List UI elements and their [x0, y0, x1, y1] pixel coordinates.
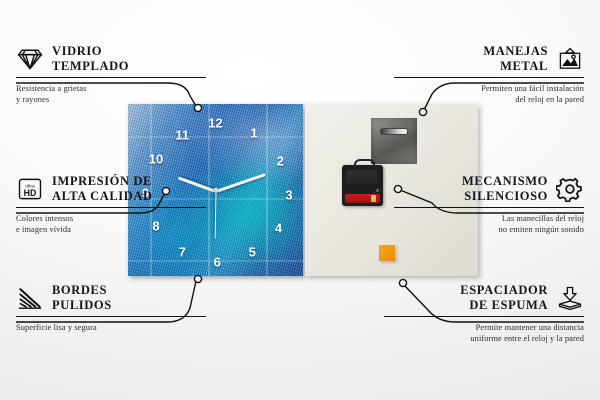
divider [384, 316, 584, 318]
feature-espaciador-espuma[interactable]: ESPACIADOR DE ESPUMA Permite mantener un… [384, 283, 584, 345]
feature-title-line1: IMPRESIÓN DE [52, 174, 153, 189]
gear-icon [556, 176, 584, 202]
diamond-icon [16, 46, 44, 72]
feature-title-line1: VIDRIO [52, 44, 129, 59]
arrow-onto-foam-pad-icon [556, 285, 584, 311]
feature-title-line1: BORDES [52, 283, 112, 298]
clock-numeral-4: 4 [275, 221, 282, 234]
feature-title-line2: SILENCIOSO [462, 189, 548, 204]
feature-heading: MECANISMO SILENCIOSO [394, 174, 584, 204]
feature-heading: ESPACIADOR DE ESPUMA [384, 283, 584, 313]
mechanism-hanging-loop [354, 159, 375, 169]
hanging-picture-frame-icon [556, 46, 584, 72]
hanger-keyhole-slot [380, 128, 408, 135]
anchor-point-bordes [194, 275, 201, 282]
clock-numeral-7: 7 [179, 245, 186, 258]
battery [345, 194, 380, 203]
mechanism-adjust-knob [376, 189, 379, 192]
feature-manejas-metal[interactable]: MANEJAS METAL Permiten una fácil instala… [394, 44, 584, 106]
feature-mecanismo-silencioso[interactable]: MECANISMO SILENCIOSO Las manecillas del … [394, 174, 584, 236]
svg-text:HD: HD [24, 188, 37, 198]
feature-heading: MANEJAS METAL [394, 44, 584, 74]
clock-second-hand [214, 190, 216, 238]
feature-title-line2: METAL [483, 59, 548, 74]
divider [16, 207, 206, 209]
clock-mechanism [342, 165, 383, 206]
clock-numeral-10: 10 [149, 153, 163, 166]
feature-heading: ultra HD IMPRESIÓN DE ALTA CALIDAD [16, 174, 206, 204]
feature-bordes-pulidos[interactable]: BORDES PULIDOS Superficie lisa y segura [16, 283, 206, 333]
feature-vidrio-templado[interactable]: VIDRIO TEMPLADO Resistencia a grietas y … [16, 44, 206, 106]
metal-hanger-plate [371, 118, 417, 164]
clock-center-pivot [213, 188, 218, 193]
divider [394, 207, 584, 209]
mechanism-housing [346, 170, 377, 185]
foam-spacer [379, 245, 395, 261]
feature-description-line1: Las manecillas del reloj [394, 213, 584, 224]
feature-description-line2: uniforme entre el reloj y la pared [384, 333, 584, 344]
clock-numeral-1: 1 [250, 127, 257, 140]
feature-description-line2: del reloj en la pared [394, 94, 584, 105]
feature-title-line1: ESPACIADOR [460, 283, 548, 298]
polished-edge-lines-icon [16, 285, 44, 311]
feature-title-line2: TEMPLADO [52, 59, 129, 74]
feature-description-line2: no emiten ningún sonido [394, 224, 584, 235]
clock-numeral-3: 3 [285, 189, 292, 202]
clock-numeral-12: 12 [208, 116, 222, 129]
feature-description-line1: Colores intensos [16, 213, 206, 224]
feature-title-line2: PULIDOS [52, 298, 112, 313]
feature-impresion-alta-calidad[interactable]: ultra HD IMPRESIÓN DE ALTA CALIDAD Color… [16, 174, 206, 236]
feature-title-line1: MECANISMO [462, 174, 548, 189]
clock-numeral-2: 2 [277, 154, 284, 167]
feature-heading: BORDES PULIDOS [16, 283, 206, 313]
feature-heading: VIDRIO TEMPLADO [16, 44, 206, 74]
feature-description-line1: Resistencia a grietas [16, 83, 206, 94]
divider [16, 316, 206, 318]
feature-description-line1: Permite mantener una distancia [384, 322, 584, 333]
feature-description-line1: Permiten una fácil instalación [394, 83, 584, 94]
divider [16, 77, 206, 79]
feature-title-line1: MANEJAS [483, 44, 548, 59]
infographic-canvas: 12 1 2 3 4 5 6 7 8 9 10 11 [0, 0, 600, 400]
feature-title-line2: ALTA CALIDAD [52, 189, 153, 204]
feature-description-line1: Superficie lisa y segura [16, 322, 206, 333]
feature-description-line2: y rayones [16, 94, 206, 105]
ultra-hd-badge-icon: ultra HD [16, 176, 44, 202]
feature-description-line2: e imagen vívida [16, 224, 206, 235]
feature-title-line2: DE ESPUMA [460, 298, 548, 313]
clock-minute-hand [215, 173, 265, 193]
clock-numeral-6: 6 [214, 256, 221, 269]
clock-numeral-5: 5 [249, 245, 256, 258]
clock-numeral-11: 11 [175, 128, 189, 141]
divider [394, 77, 584, 79]
